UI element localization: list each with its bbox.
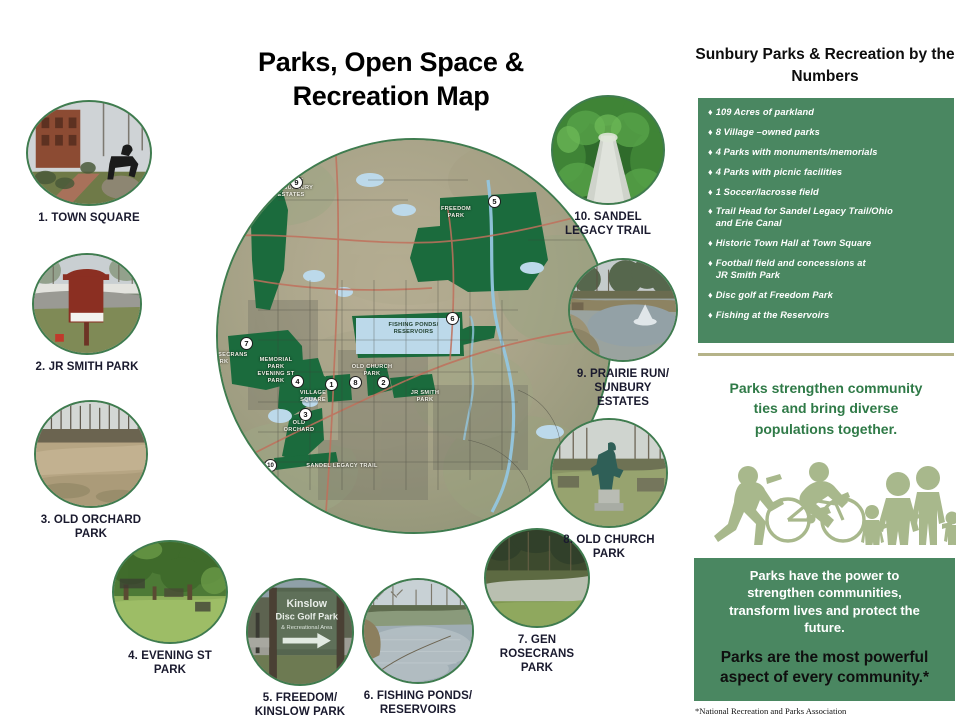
map-marker-9[interactable]: 9 [290,176,303,189]
map-marker-6[interactable]: 6 [446,312,459,325]
cyclist-icon [767,462,864,541]
stat-row: ♦ Football field and concessions at JR S… [708,258,944,282]
photo-item-town-square[interactable]: 1. TOWN SQUARE [26,100,152,226]
photo-caption: 8. OLD CHURCH PARK [550,534,668,562]
photo-item-jr-smith-park[interactable]: 2. JR SMITH PARK [32,253,142,375]
quote-primary: Parks have the power to strengthen commu… [706,567,943,636]
diamond-bullet-icon: ♦ [708,206,713,218]
diamond-bullet-icon: ♦ [708,290,713,302]
photo-evening-st-park [112,540,228,644]
photo-caption: 4. EVENING ST PARK [112,650,228,678]
stat-row: ♦ 109 Acres of parkland [708,107,944,119]
svg-text:& Recreational Area: & Recreational Area [281,625,333,631]
panel-title: Sunbury Parks & Recreation by the Number… [694,44,956,88]
tagline: Parks strengthen community ties and brin… [698,378,954,439]
photo-old-church-park [550,418,668,528]
photo-town-square [26,100,152,206]
diamond-bullet-icon: ♦ [708,258,713,270]
stat-text: 8 Village –owned parks [716,127,820,139]
photo-caption: 5. FREEDOM/ KINSLOW PARK [246,692,354,720]
photo-caption: 3. OLD ORCHARD PARK [34,514,148,542]
photo-caption: 2. JR SMITH PARK [32,361,142,375]
diamond-bullet-icon: ♦ [708,147,713,159]
family-icon [861,466,956,545]
photo-caption: 10. SANDEL LEGACY TRAIL [551,211,665,239]
svg-text:Disc Golf Park: Disc Golf Park [276,611,339,621]
map-title: Parks, Open Space & Recreation Map [196,46,586,114]
photo-caption: 6. FISHING PONDS/ RESERVOIRS [362,690,474,718]
diamond-bullet-icon: ♦ [708,238,713,250]
stats-box: ♦ 109 Acres of parkland ♦ 8 Village –own… [698,98,954,343]
stat-row: ♦ Historic Town Hall at Town Square [708,238,944,250]
stat-row: ♦ Fishing at the Reservoirs [708,310,944,322]
photo-old-orchard-park [34,400,148,508]
diamond-bullet-icon: ♦ [708,167,713,179]
photo-item-sandel-legacy-trail[interactable]: 10. SANDEL LEGACY TRAIL [551,95,665,239]
quote-box: Parks have the power to strengthen commu… [694,558,955,701]
photo-item-old-church-park[interactable]: 8. OLD CHURCH PARK [550,418,668,562]
photo-caption: 9. PRAIRIE RUN/ SUNBURY ESTATES [568,368,678,409]
diamond-bullet-icon: ♦ [708,310,713,322]
photo-sandel-legacy-trail [551,95,665,205]
diamond-bullet-icon: ♦ [708,187,713,199]
photo-freedom-kinslow-park: Kinslow Disc Golf Park & Recreational Ar… [246,578,354,686]
map-marker-2[interactable]: 2 [377,376,390,389]
map-marker-4[interactable]: 4 [291,375,304,388]
photo-caption: 1. TOWN SQUARE [26,212,152,226]
stat-text: 109 Acres of parkland [716,107,814,119]
stat-row: ♦ 4 Parks with monuments/memorials [708,147,944,159]
map-marker-5[interactable]: 5 [488,195,501,208]
stat-row: ♦ 8 Village –owned parks [708,127,944,139]
people-silhouette-graphic [700,450,956,545]
photo-item-prairie-run-sunbury-estates[interactable]: 9. PRAIRIE RUN/ SUNBURY ESTATES [568,258,678,409]
stat-text: 4 Parks with monuments/memorials [716,147,878,159]
photo-item-evening-st-park[interactable]: 4. EVENING ST PARK [112,540,228,678]
photo-jr-smith-park [32,253,142,355]
photo-item-fishing-ponds-reservoirs[interactable]: 6. FISHING PONDS/ RESERVOIRS [362,578,474,718]
photo-caption: 7. GEN ROSECRANS PARK [484,634,590,675]
map-marker-8[interactable]: 8 [349,376,362,389]
photo-item-old-orchard-park[interactable]: 3. OLD ORCHARD PARK [34,400,148,542]
stat-text: Fishing at the Reservoirs [716,310,830,322]
diamond-bullet-icon: ♦ [708,127,713,139]
photo-item-freedom-kinslow-park[interactable]: Kinslow Disc Golf Park & Recreational Ar… [246,578,354,720]
stat-text: Football field and concessions at JR Smi… [716,258,866,282]
stat-text: Trail Head for Sandel Legacy Trail/Ohio … [716,206,893,230]
stat-text: 1 Soccer/lacrosse field [716,187,819,199]
map-marker-10[interactable]: 10 [264,459,277,472]
quote-secondary: Parks are the most powerful aspect of ev… [706,648,943,688]
panel-divider [698,353,954,356]
diamond-bullet-icon: ♦ [708,107,713,119]
photo-fishing-ponds-reservoirs [362,578,474,684]
footnote: *National Recreation and Parks Associati… [695,706,846,716]
map-marker-3[interactable]: 3 [299,408,312,421]
map-marker-1[interactable]: 1 [325,378,338,391]
stat-text: Historic Town Hall at Town Square [716,238,872,250]
stat-row: ♦ 4 Parks with picnic facilities [708,167,944,179]
stat-row: ♦ 1 Soccer/lacrosse field [708,187,944,199]
stat-row: ♦ Disc golf at Freedom Park [708,290,944,302]
stat-text: Disc golf at Freedom Park [716,290,833,302]
svg-text:Kinslow: Kinslow [286,598,327,610]
stat-text: 4 Parks with picnic facilities [716,167,843,179]
photo-prairie-run-sunbury-estates [568,258,678,362]
map-marker-7[interactable]: 7 [240,337,253,350]
stat-row: ♦ Trail Head for Sandel Legacy Trail/Ohi… [708,206,944,230]
poster-root: Parks, Open Space & Recreation Map [0,0,960,720]
